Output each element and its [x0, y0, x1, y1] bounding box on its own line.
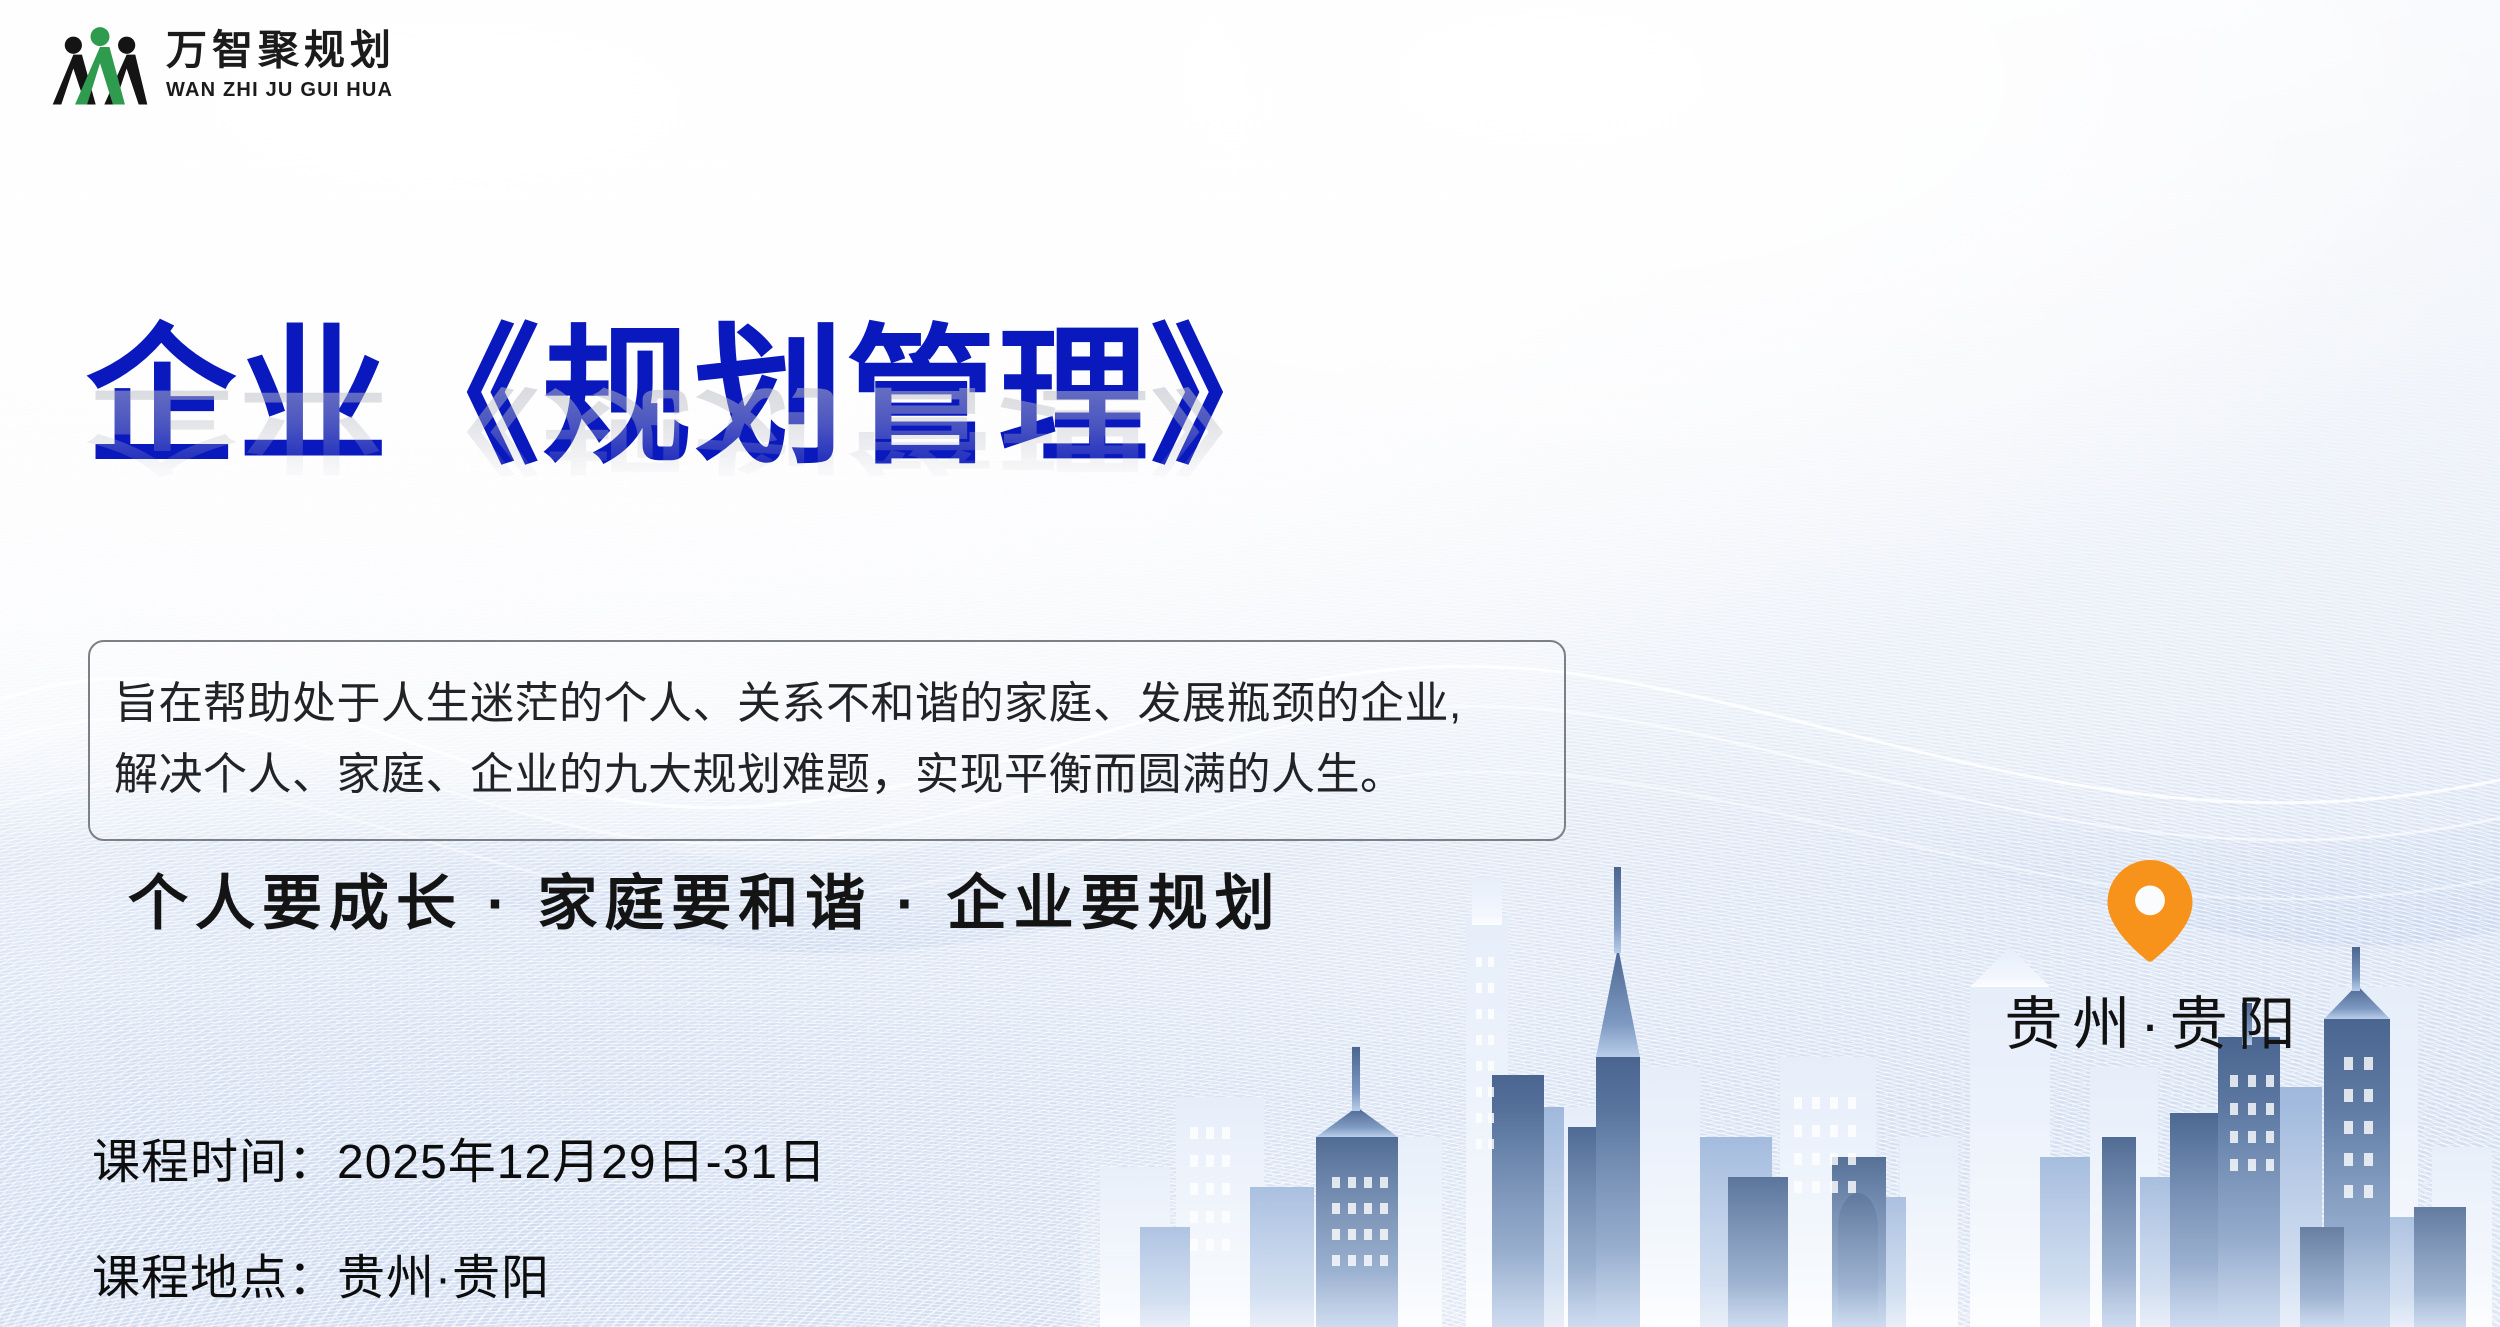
brand-logo-text: 万智聚规划 WAN ZHI JU GUI HUA — [166, 30, 396, 100]
course-venue: 课程地点：贵州·贵阳 — [92, 1238, 827, 1308]
brand-name-cn: 万智聚规划 — [166, 30, 396, 71]
tagline: 个人要成长 · 家庭要和谐 · 企业要规划 — [128, 855, 1282, 942]
brand-name-en: WAN ZHI JU GUI HUA — [166, 80, 396, 100]
location-label: 贵州·贵阳 — [1950, 977, 2350, 1061]
page-title-reflection: 企业《规划管理》 — [86, 379, 1302, 478]
map-pin-icon — [2107, 860, 2193, 962]
headline-block: 企业《规划管理》 企业《规划管理》 — [86, 318, 1646, 477]
course-date: 课程时间：2025年12月29日-31日 — [92, 1122, 827, 1192]
description-box: 旨在帮助处于人生迷茫的个人、关系不和谐的家庭、发展瓶颈的企业, 解决个人、家庭、… — [88, 640, 1566, 841]
location-badge: 贵州·贵阳 — [1950, 860, 2350, 1061]
course-info: 课程时间：2025年12月29日-31日 课程地点：贵州·贵阳 — [92, 1122, 827, 1308]
brand-logo[interactable]: 万智聚规划 WAN ZHI JU GUI HUA — [52, 22, 396, 108]
poster-canvas: 万智聚规划 WAN ZHI JU GUI HUA 企业《规划管理》 企业《规划管… — [0, 0, 2500, 1327]
description-line-2: 解决个人、家庭、企业的九大规划难题，实现平衡而圆满的人生。 — [114, 739, 1540, 810]
description-line-1: 旨在帮助处于人生迷茫的个人、关系不和谐的家庭、发展瓶颈的企业, — [114, 668, 1540, 739]
three-people-m-logo-icon — [52, 22, 148, 108]
